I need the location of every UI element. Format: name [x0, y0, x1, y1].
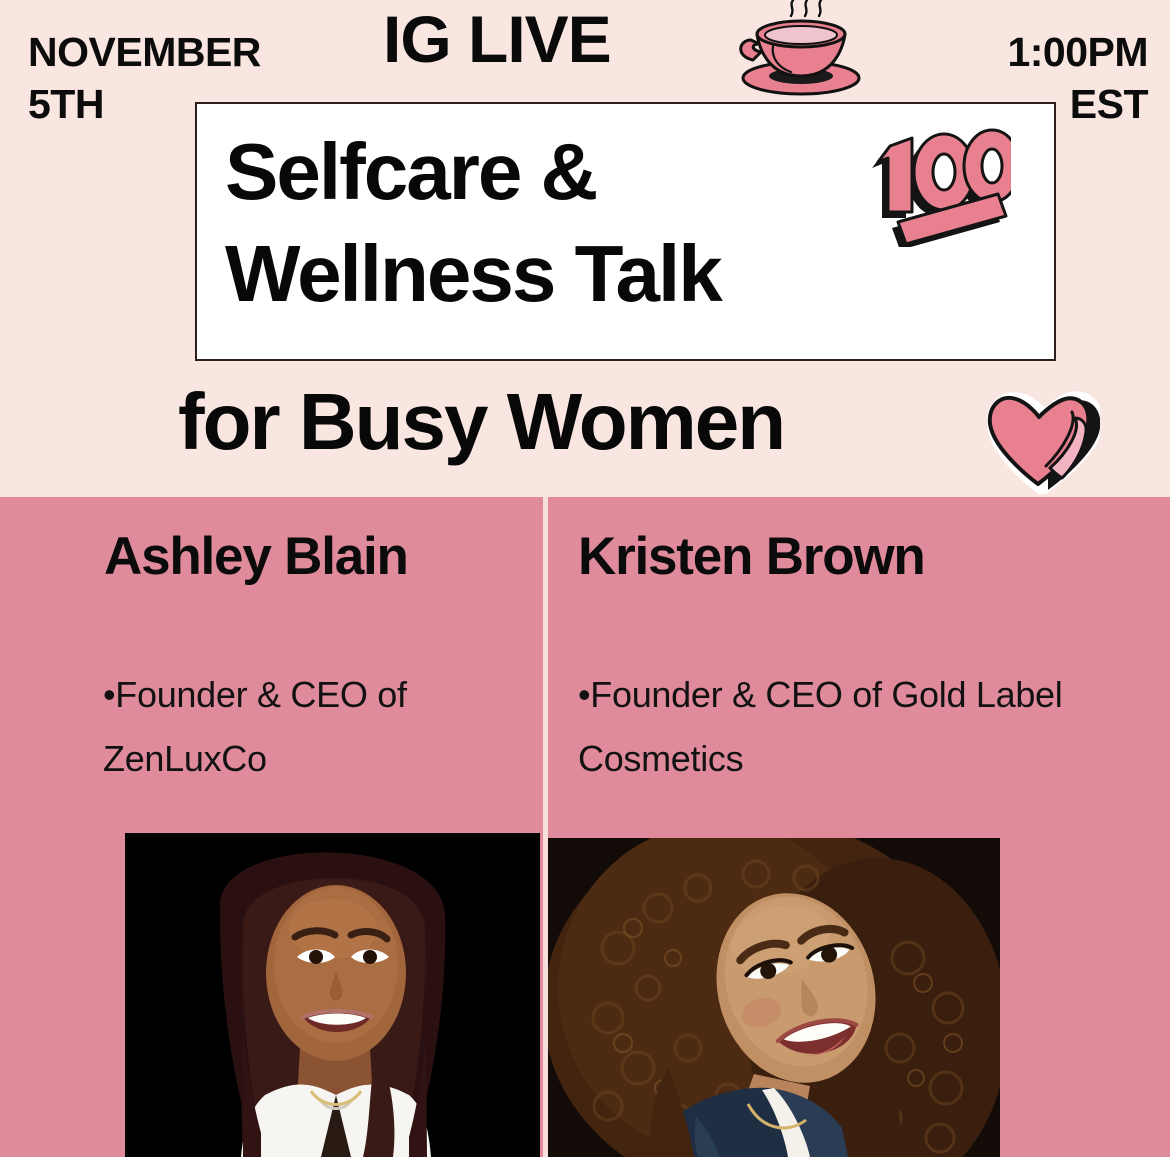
subtitle: for Busy Women — [178, 382, 784, 462]
teacup-icon — [729, 0, 874, 100]
header-section: NOVEMBER 5TH IG LIVE 1:00PM EST — [0, 0, 1170, 497]
hundred-points-icon — [866, 122, 1011, 247]
speaker-bio-ashley-blain: •Founder & CEO of ZenLuxCo — [103, 663, 503, 791]
event-flyer: NOVEMBER 5TH IG LIVE 1:00PM EST — [0, 0, 1170, 1157]
platform-label: IG LIVE — [383, 6, 611, 72]
speaker-name-ashley-blain: Ashley Blain — [104, 530, 408, 583]
heart-icon — [978, 390, 1100, 494]
speaker-bio-kristen-brown: •Founder & CEO of Gold Label Cosmetics — [578, 663, 1088, 791]
title-line-2: Wellness Talk — [225, 234, 721, 314]
speaker-name-kristen-brown: Kristen Brown — [578, 530, 925, 583]
speaker-photo-ashley-blain — [125, 833, 540, 1157]
title-line-1: Selfcare & — [225, 132, 596, 212]
speaker-photo-kristen-brown — [548, 838, 1000, 1157]
